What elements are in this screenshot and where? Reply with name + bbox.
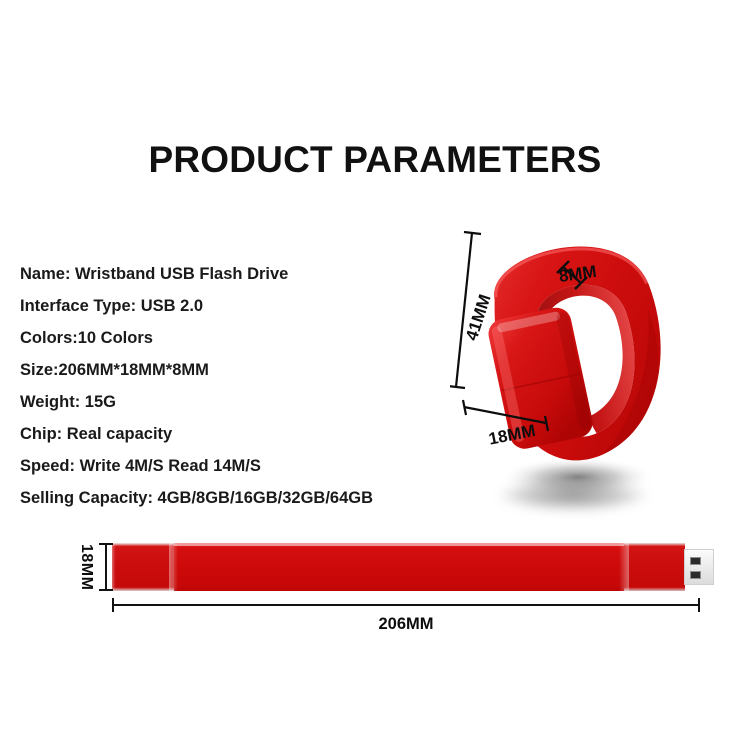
coiled-wristband-image — [450, 205, 710, 505]
dim-rule — [112, 604, 700, 606]
spec-row-selling-capacity: Selling Capacity: 4GB/8GB/16GB/32GB/64GB — [20, 482, 440, 514]
page-title: PRODUCT PARAMETERS — [0, 139, 750, 181]
strap-highlight — [112, 543, 685, 546]
product-parameters-page: PRODUCT PARAMETERS Name: Wristband USB F… — [0, 0, 750, 750]
dim-label-206mm: 206MM — [112, 615, 700, 634]
dim-cap-bottom — [99, 589, 113, 591]
spec-row-interface-type: Interface Type: USB 2.0 — [20, 290, 440, 322]
spec-row-speed: Speed: Write 4M/S Read 14M/S — [20, 450, 440, 482]
usb-connector-icon — [684, 549, 714, 585]
spec-row-colors: Colors:10 Colors — [20, 322, 440, 354]
dim-line-18mm-flat — [99, 543, 113, 591]
spec-list: Name: Wristband USB Flash Drive Interfac… — [20, 258, 440, 514]
spec-row-size: Size:206MM*18MM*8MM — [20, 354, 440, 386]
strap-segment-right — [624, 543, 685, 591]
dim-label-18mm-flat: 18MM — [76, 543, 96, 591]
usb-contact-pad — [690, 571, 701, 579]
dim-stem — [105, 543, 107, 591]
strap-segment-left — [112, 543, 174, 591]
strap-body — [112, 543, 685, 591]
dim-cap-right — [698, 598, 700, 612]
flat-wristband-image — [112, 543, 700, 591]
drop-shadow — [498, 478, 648, 512]
usb-contact-pad — [690, 557, 701, 565]
spec-row-name: Name: Wristband USB Flash Drive — [20, 258, 440, 290]
dim-line-206mm — [112, 598, 700, 612]
spec-row-chip: Chip: Real capacity — [20, 418, 440, 450]
spec-row-weight: Weight: 15G — [20, 386, 440, 418]
